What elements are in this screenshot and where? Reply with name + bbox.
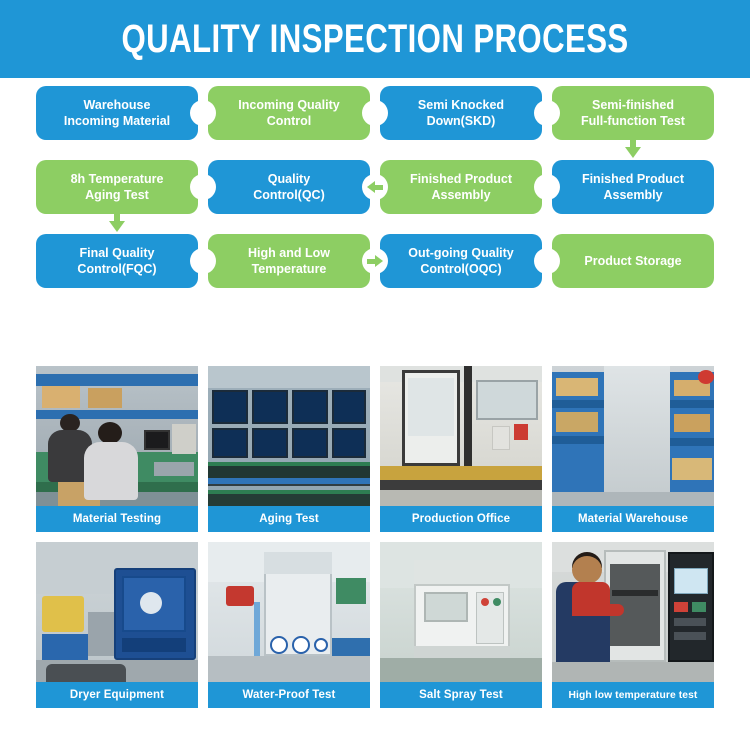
flow-node-product-storage[interactable]: Product Storage	[552, 234, 714, 288]
node-line-2: Down(SKD)	[427, 114, 496, 128]
gallery-item-material-warehouse[interactable]: Material Warehouse	[552, 366, 714, 532]
flow-node-out-going-quality-control-oqc[interactable]: Out-going QualityControl(OQC)	[380, 234, 542, 288]
node-line-1: Final Quality	[79, 246, 154, 260]
arrow-right-icon	[362, 100, 388, 126]
flow-node-high-and-low-temperature[interactable]: High and LowTemperature	[208, 234, 370, 288]
gallery-caption: Dryer Equipment	[36, 682, 198, 708]
arrow-left-icon	[190, 174, 216, 200]
flow-node-finished-product-assembly-blue[interactable]: Finished ProductAssembly	[552, 160, 714, 214]
node-line-2: Assembly	[431, 188, 490, 202]
gallery-caption: Water-Proof Test	[208, 682, 370, 708]
gallery-caption: Salt Spray Test	[380, 682, 542, 708]
arrow-down-icon	[105, 210, 129, 234]
process-flowchart: WarehouseIncoming Material Incoming Qual…	[0, 86, 750, 348]
gallery-caption: Production Office	[380, 506, 542, 532]
node-line-1: Semi Knocked	[418, 98, 504, 112]
gallery-item-dryer-equipment[interactable]: Dryer Equipment	[36, 542, 198, 708]
gallery-item-water-proof-test[interactable]: Water-Proof Test	[208, 542, 370, 708]
gallery-caption: Material Warehouse	[552, 506, 714, 532]
arrow-right-icon	[190, 248, 216, 274]
node-line-1: Incoming Quality	[238, 98, 339, 112]
node-line-2: Aging Test	[85, 188, 149, 202]
node-line-2: Assembly	[603, 188, 662, 202]
arrow-left-icon	[362, 174, 388, 200]
flow-row-2: 8h TemperatureAging Test QualityControl(…	[0, 160, 750, 234]
gallery-item-production-office[interactable]: Production Office	[380, 366, 542, 532]
node-line-1: Finished Product	[582, 172, 684, 186]
arrow-right-icon	[534, 100, 560, 126]
node-line-1: 8h Temperature	[71, 172, 164, 186]
flow-node-incoming-quality-control[interactable]: Incoming QualityControl	[208, 86, 370, 140]
node-line-1: Finished Product	[410, 172, 512, 186]
flow-node-quality-control-qc[interactable]: QualityControl(QC)	[208, 160, 370, 214]
flow-node-warehouse-incoming-material[interactable]: WarehouseIncoming Material	[36, 86, 198, 140]
node-line-1: Quality	[268, 172, 310, 186]
photo-gallery: Material Testing Aging Test Production O…	[36, 366, 714, 714]
node-line-2: Incoming Material	[64, 114, 170, 128]
flow-row-1: WarehouseIncoming Material Incoming Qual…	[0, 86, 750, 160]
arrow-right-icon	[362, 248, 388, 274]
node-line-2: Control(FQC)	[77, 262, 156, 276]
gallery-item-material-testing[interactable]: Material Testing	[36, 366, 198, 532]
node-line-2: Control(OQC)	[420, 262, 501, 276]
node-line-2: Full-function Test	[581, 114, 685, 128]
gallery-item-high-low-temperature-test[interactable]: High low temperature test	[552, 542, 714, 708]
arrow-down-icon	[621, 136, 645, 160]
gallery-caption: High low temperature test	[552, 682, 714, 708]
arrow-left-icon	[534, 174, 560, 200]
quality-inspection-process-page: QUALITY INSPECTION PROCESS WarehouseInco…	[0, 0, 750, 750]
node-line-2: Temperature	[252, 262, 327, 276]
gallery-item-salt-spray-test[interactable]: Salt Spray Test	[380, 542, 542, 708]
node-line-2: Control(QC)	[253, 188, 325, 202]
flow-node-semi-knocked-down[interactable]: Semi KnockedDown(SKD)	[380, 86, 542, 140]
flow-node-final-quality-control-fqc[interactable]: Final QualityControl(FQC)	[36, 234, 198, 288]
node-line-1: Out-going Quality	[408, 246, 514, 260]
node-line-1: High and Low	[248, 246, 330, 260]
flow-node-semi-finished-full-function-test[interactable]: Semi-finishedFull-function Test	[552, 86, 714, 140]
flow-node-8h-temperature-aging-test[interactable]: 8h TemperatureAging Test	[36, 160, 198, 214]
node-line-1: Warehouse	[84, 98, 151, 112]
node-line-1: Product Storage	[584, 254, 681, 268]
gallery-caption: Material Testing	[36, 506, 198, 532]
arrow-right-icon	[190, 100, 216, 126]
gallery-caption: Aging Test	[208, 506, 370, 532]
page-header: QUALITY INSPECTION PROCESS	[0, 0, 750, 78]
flow-node-finished-product-assembly-green[interactable]: Finished ProductAssembly	[380, 160, 542, 214]
gallery-item-aging-test[interactable]: Aging Test	[208, 366, 370, 532]
node-line-1: Semi-finished	[592, 98, 674, 112]
arrow-right-icon	[534, 248, 560, 274]
node-line-2: Control	[267, 114, 311, 128]
page-title: QUALITY INSPECTION PROCESS	[121, 17, 628, 62]
flow-row-3: Final QualityControl(FQC) High and LowTe…	[0, 234, 750, 308]
